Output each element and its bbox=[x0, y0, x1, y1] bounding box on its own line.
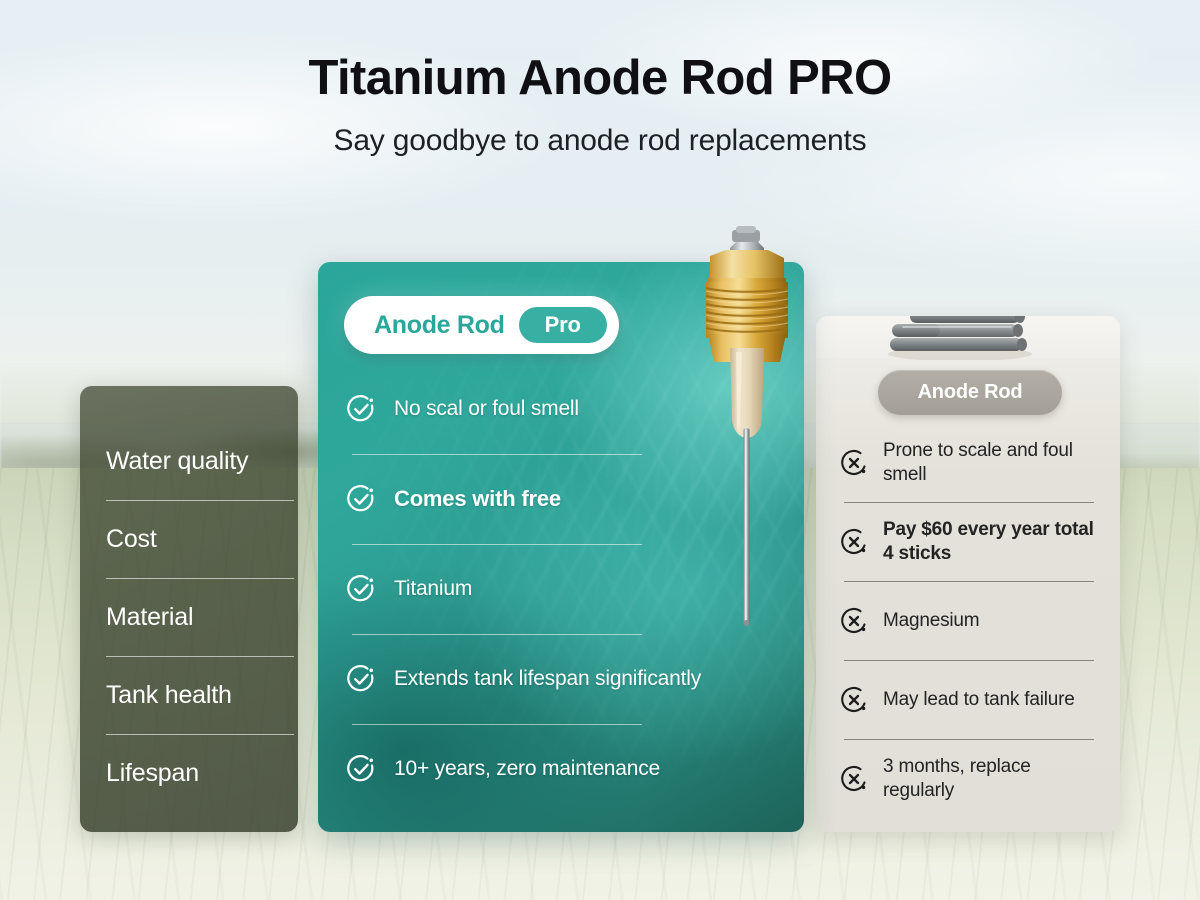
check-circle-icon bbox=[344, 752, 378, 786]
infographic-canvas: Titanium Anode Rod PRO Say goodbye to an… bbox=[0, 0, 1200, 900]
x-circle-icon bbox=[838, 763, 870, 795]
competitor-content: Anode Rod Prone to scale and foul smell bbox=[816, 370, 1120, 818]
competitor-feature-row: May lead to tank failure bbox=[838, 660, 1102, 739]
competitor-feature-row: Prone to scale and foul smell bbox=[838, 423, 1102, 502]
check-circle-icon bbox=[344, 482, 378, 516]
header: Titanium Anode Rod PRO Say goodbye to an… bbox=[0, 52, 1200, 158]
competitor-card: Anode Rod Prone to scale and foul smell bbox=[816, 316, 1120, 832]
pro-feature-row: Titanium bbox=[344, 544, 780, 634]
x-circle-icon bbox=[838, 526, 870, 558]
pro-title-pill: Anode Rod Pro bbox=[344, 296, 619, 354]
criteria-label: Water quality bbox=[106, 447, 248, 476]
competitor-feature-list: Prone to scale and foul smell Pay $60 ev… bbox=[838, 423, 1102, 818]
pro-feature-text: Extends tank lifespan significantly bbox=[394, 666, 701, 691]
criteria-row: Material bbox=[106, 578, 298, 656]
pro-feature-text: No scal or foul smell bbox=[394, 396, 579, 421]
pro-feature-row: Extends tank lifespan significantly bbox=[344, 634, 780, 724]
page-title: Titanium Anode Rod PRO bbox=[0, 52, 1200, 106]
check-circle-icon bbox=[344, 392, 378, 426]
criteria-label: Lifespan bbox=[106, 759, 199, 788]
competitor-feature-text: May lead to tank failure bbox=[883, 688, 1075, 711]
criteria-row: Tank health bbox=[106, 656, 298, 734]
pro-feature-row: Comes with free bbox=[344, 454, 780, 544]
pro-feature-row: No scal or foul smell bbox=[344, 364, 780, 454]
criteria-label: Material bbox=[106, 603, 193, 632]
competitor-feature-text: Magnesium bbox=[883, 609, 979, 632]
competitor-feature-text: Pay $60 every year total 4 sticks bbox=[883, 518, 1102, 564]
check-circle-icon bbox=[344, 662, 378, 696]
criteria-label: Tank health bbox=[106, 681, 232, 710]
pro-feature-text: 10+ years, zero maintenance bbox=[394, 756, 660, 781]
pro-feature-row: 10+ years, zero maintenance bbox=[344, 724, 780, 814]
competitor-feature-text: Prone to scale and foul smell bbox=[883, 439, 1102, 485]
criteria-column: Water quality Cost Material Tank health … bbox=[80, 386, 298, 832]
criteria-row: Water quality bbox=[106, 422, 298, 500]
criteria-label: Cost bbox=[106, 525, 157, 554]
competitor-feature-row: 3 months, replace regularly bbox=[838, 739, 1102, 818]
competitor-feature-text: 3 months, replace regularly bbox=[883, 755, 1102, 801]
pro-card: Anode Rod Pro No scal or foul smell bbox=[318, 262, 804, 832]
competitor-feature-row: Magnesium bbox=[838, 581, 1102, 660]
page-subtitle: Say goodbye to anode rod replacements bbox=[0, 124, 1200, 158]
pro-content: Anode Rod Pro No scal or foul smell bbox=[318, 262, 804, 832]
check-circle-icon bbox=[344, 572, 378, 606]
x-circle-icon bbox=[838, 605, 870, 637]
pro-feature-text: Comes with free bbox=[394, 486, 561, 512]
x-circle-icon bbox=[838, 447, 870, 479]
pro-feature-text: Titanium bbox=[394, 576, 472, 601]
pro-badge: Pro bbox=[519, 307, 607, 343]
competitor-feature-row: Pay $60 every year total 4 sticks bbox=[838, 502, 1102, 581]
competitor-title-pill: Anode Rod bbox=[878, 370, 1063, 415]
criteria-row: Lifespan bbox=[106, 734, 298, 812]
pro-title-text: Anode Rod bbox=[374, 311, 505, 340]
pro-feature-list: No scal or foul smell Comes with free bbox=[344, 364, 780, 814]
criteria-row: Cost bbox=[106, 500, 298, 578]
magnesium-rods-stack-image bbox=[876, 316, 1040, 360]
x-circle-icon bbox=[838, 684, 870, 716]
